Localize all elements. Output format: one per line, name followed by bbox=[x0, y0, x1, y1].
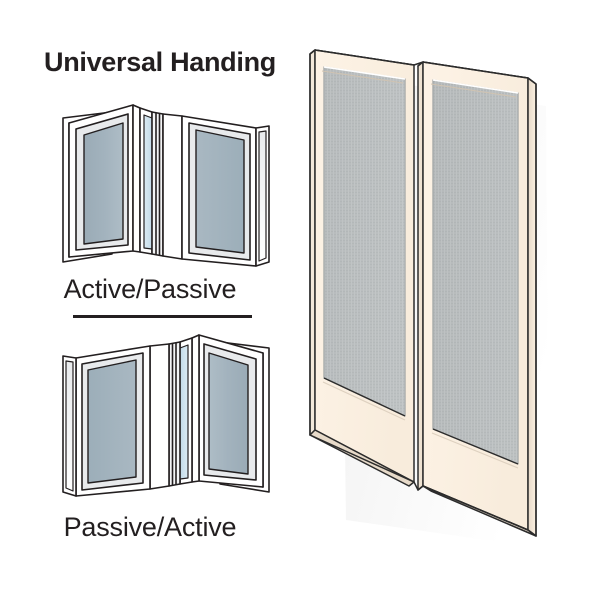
page-title: Universal Handing bbox=[44, 47, 276, 78]
section-divider bbox=[73, 315, 252, 318]
screen-door-illustration-panel bbox=[288, 30, 600, 570]
universal-handing-panel: Universal Handing bbox=[0, 0, 300, 600]
handing-caption-passive-active: Passive/Active bbox=[0, 512, 300, 543]
screenshot-canvas: Universal Handing bbox=[0, 0, 600, 600]
double-screen-door-3d bbox=[288, 30, 600, 570]
double-door-open-diagram-passive-active bbox=[60, 332, 272, 504]
double-door-open-diagram-active-passive bbox=[60, 102, 272, 274]
handing-caption-active-passive: Active/Passive bbox=[0, 274, 300, 305]
screen-door-panel-right bbox=[418, 62, 536, 536]
screen-door-panel-left bbox=[310, 50, 414, 486]
